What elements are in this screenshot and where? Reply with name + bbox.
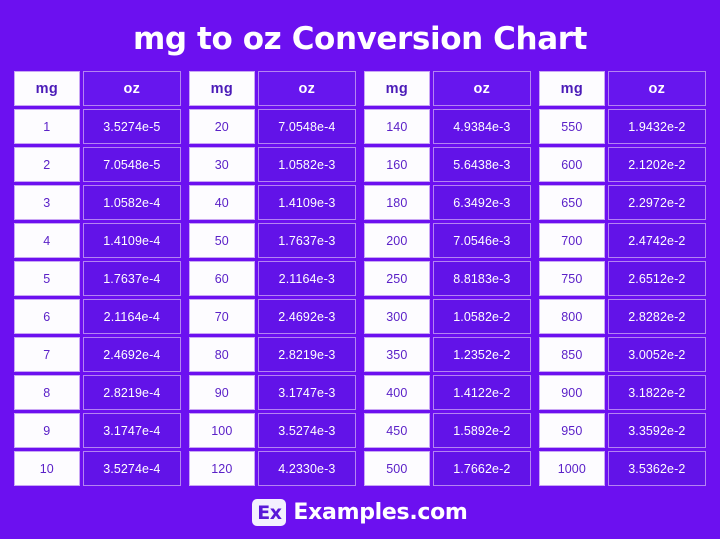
cell-mg: 60 xyxy=(189,261,255,296)
cell-mg: 10 xyxy=(14,451,80,486)
table-row: 401.4109e-3 xyxy=(189,185,356,220)
table-row: 1605.6438e-3 xyxy=(364,147,531,182)
conversion-table: mgoz1404.9384e-31605.6438e-31806.3492e-3… xyxy=(364,71,531,486)
cell-oz: 1.7637e-3 xyxy=(258,223,356,258)
table-row: 51.7637e-4 xyxy=(14,261,181,296)
cell-mg: 140 xyxy=(364,109,430,144)
column-header-mg: mg xyxy=(539,71,605,106)
table-row: 702.4692e-3 xyxy=(189,299,356,334)
cell-mg: 6 xyxy=(14,299,80,334)
cell-oz: 4.2330e-3 xyxy=(258,451,356,486)
table-row: 27.0548e-5 xyxy=(14,147,181,182)
cell-mg: 8 xyxy=(14,375,80,410)
cell-oz: 2.1164e-4 xyxy=(83,299,181,334)
conversion-table: mgoz13.5274e-527.0548e-531.0582e-441.410… xyxy=(14,71,181,486)
table-row: 301.0582e-3 xyxy=(189,147,356,182)
table-row: 62.1164e-4 xyxy=(14,299,181,334)
cell-mg: 70 xyxy=(189,299,255,334)
table-row: 602.1164e-3 xyxy=(189,261,356,296)
table-header-row: mgoz xyxy=(539,71,706,106)
cell-mg: 180 xyxy=(364,185,430,220)
cell-oz: 3.1822e-2 xyxy=(608,375,706,410)
table-row: 1003.5274e-3 xyxy=(189,413,356,448)
cell-mg: 750 xyxy=(539,261,605,296)
cell-mg: 300 xyxy=(364,299,430,334)
column-header-oz: oz xyxy=(433,71,531,106)
column-header-mg: mg xyxy=(189,71,255,106)
cell-mg: 5 xyxy=(14,261,80,296)
cell-mg: 850 xyxy=(539,337,605,372)
cell-mg: 500 xyxy=(364,451,430,486)
cell-oz: 3.0052e-2 xyxy=(608,337,706,372)
cell-mg: 160 xyxy=(364,147,430,182)
cell-mg: 650 xyxy=(539,185,605,220)
cell-oz: 4.9384e-3 xyxy=(433,109,531,144)
table-row: 1806.3492e-3 xyxy=(364,185,531,220)
cell-oz: 3.5274e-4 xyxy=(83,451,181,486)
cell-oz: 1.4109e-4 xyxy=(83,223,181,258)
table-row: 41.4109e-4 xyxy=(14,223,181,258)
cell-oz: 3.5362e-2 xyxy=(608,451,706,486)
table-row: 3501.2352e-2 xyxy=(364,337,531,372)
table-row: 903.1747e-3 xyxy=(189,375,356,410)
cell-oz: 3.5274e-5 xyxy=(83,109,181,144)
cell-mg: 90 xyxy=(189,375,255,410)
cell-oz: 3.1747e-3 xyxy=(258,375,356,410)
cell-mg: 20 xyxy=(189,109,255,144)
column-header-oz: oz xyxy=(608,71,706,106)
page-title: mg to oz Conversion Chart xyxy=(0,19,720,59)
cell-oz: 3.5274e-3 xyxy=(258,413,356,448)
table-row: 4501.5892e-2 xyxy=(364,413,531,448)
column-header-oz: oz xyxy=(258,71,356,106)
table-row: 1204.2330e-3 xyxy=(189,451,356,486)
cell-oz: 1.5892e-2 xyxy=(433,413,531,448)
cell-oz: 2.6512e-2 xyxy=(608,261,706,296)
cell-mg: 4 xyxy=(14,223,80,258)
cell-oz: 1.7637e-4 xyxy=(83,261,181,296)
cell-oz: 2.4742e-2 xyxy=(608,223,706,258)
table-header-row: mgoz xyxy=(14,71,181,106)
cell-oz: 7.0548e-5 xyxy=(83,147,181,182)
table-row: 4001.4122e-2 xyxy=(364,375,531,410)
cell-mg: 1 xyxy=(14,109,80,144)
cell-oz: 1.4109e-3 xyxy=(258,185,356,220)
cell-oz: 2.1202e-2 xyxy=(608,147,706,182)
table-row: 2508.8183e-3 xyxy=(364,261,531,296)
cell-oz: 7.0548e-4 xyxy=(258,109,356,144)
cell-mg: 350 xyxy=(364,337,430,372)
table-row: 93.1747e-4 xyxy=(14,413,181,448)
table-row: 7002.4742e-2 xyxy=(539,223,706,258)
table-row: 6502.2972e-2 xyxy=(539,185,706,220)
table-header-row: mgoz xyxy=(189,71,356,106)
cell-mg: 1000 xyxy=(539,451,605,486)
cell-oz: 2.1164e-3 xyxy=(258,261,356,296)
table-row: 82.8219e-4 xyxy=(14,375,181,410)
table-row: 8002.8282e-2 xyxy=(539,299,706,334)
table-header-row: mgoz xyxy=(364,71,531,106)
table-row: 7502.6512e-2 xyxy=(539,261,706,296)
cell-mg: 120 xyxy=(189,451,255,486)
cell-oz: 5.6438e-3 xyxy=(433,147,531,182)
cell-mg: 3 xyxy=(14,185,80,220)
table-row: 10003.5362e-2 xyxy=(539,451,706,486)
cell-oz: 1.2352e-2 xyxy=(433,337,531,372)
table-row: 802.8219e-3 xyxy=(189,337,356,372)
examples-badge-icon: Ex xyxy=(252,499,286,526)
conversion-table: mgoz5501.9432e-26002.1202e-26502.2972e-2… xyxy=(539,71,706,486)
column-header-mg: mg xyxy=(364,71,430,106)
cell-mg: 7 xyxy=(14,337,80,372)
cell-mg: 9 xyxy=(14,413,80,448)
cell-oz: 1.7662e-2 xyxy=(433,451,531,486)
table-row: 72.4692e-4 xyxy=(14,337,181,372)
table-row: 103.5274e-4 xyxy=(14,451,181,486)
table-row: 13.5274e-5 xyxy=(14,109,181,144)
cell-mg: 550 xyxy=(539,109,605,144)
table-row: 9503.3592e-2 xyxy=(539,413,706,448)
cell-oz: 1.0582e-2 xyxy=(433,299,531,334)
table-row: 3001.0582e-2 xyxy=(364,299,531,334)
cell-oz: 6.3492e-3 xyxy=(433,185,531,220)
cell-mg: 900 xyxy=(539,375,605,410)
cell-mg: 950 xyxy=(539,413,605,448)
cell-oz: 2.8219e-4 xyxy=(83,375,181,410)
cell-mg: 700 xyxy=(539,223,605,258)
column-header-mg: mg xyxy=(14,71,80,106)
tables-container: mgoz13.5274e-527.0548e-531.0582e-441.410… xyxy=(0,59,720,486)
cell-mg: 200 xyxy=(364,223,430,258)
table-row: 207.0548e-4 xyxy=(189,109,356,144)
table-row: 2007.0546e-3 xyxy=(364,223,531,258)
cell-oz: 3.1747e-4 xyxy=(83,413,181,448)
table-row: 31.0582e-4 xyxy=(14,185,181,220)
cell-oz: 7.0546e-3 xyxy=(433,223,531,258)
cell-oz: 1.0582e-3 xyxy=(258,147,356,182)
cell-mg: 30 xyxy=(189,147,255,182)
cell-oz: 2.8219e-3 xyxy=(258,337,356,372)
table-row: 8503.0052e-2 xyxy=(539,337,706,372)
table-row: 6002.1202e-2 xyxy=(539,147,706,182)
cell-oz: 2.2972e-2 xyxy=(608,185,706,220)
cell-mg: 400 xyxy=(364,375,430,410)
table-row: 5001.7662e-2 xyxy=(364,451,531,486)
cell-oz: 1.0582e-4 xyxy=(83,185,181,220)
table-row: 5501.9432e-2 xyxy=(539,109,706,144)
footer-logo: Ex Examples.com xyxy=(0,486,720,539)
cell-mg: 2 xyxy=(14,147,80,182)
cell-mg: 800 xyxy=(539,299,605,334)
cell-mg: 80 xyxy=(189,337,255,372)
cell-mg: 40 xyxy=(189,185,255,220)
column-header-oz: oz xyxy=(83,71,181,106)
cell-mg: 50 xyxy=(189,223,255,258)
table-row: 9003.1822e-2 xyxy=(539,375,706,410)
cell-oz: 8.8183e-3 xyxy=(433,261,531,296)
brand-name: Examples.com xyxy=(293,500,467,525)
table-row: 501.7637e-3 xyxy=(189,223,356,258)
cell-oz: 2.8282e-2 xyxy=(608,299,706,334)
cell-mg: 250 xyxy=(364,261,430,296)
cell-oz: 2.4692e-3 xyxy=(258,299,356,334)
cell-oz: 1.9432e-2 xyxy=(608,109,706,144)
cell-oz: 2.4692e-4 xyxy=(83,337,181,372)
cell-mg: 600 xyxy=(539,147,605,182)
cell-mg: 450 xyxy=(364,413,430,448)
conversion-chart-page: mg to oz Conversion Chart mgoz13.5274e-5… xyxy=(0,0,720,539)
cell-oz: 1.4122e-2 xyxy=(433,375,531,410)
cell-oz: 3.3592e-2 xyxy=(608,413,706,448)
table-row: 1404.9384e-3 xyxy=(364,109,531,144)
conversion-table: mgoz207.0548e-4301.0582e-3401.4109e-3501… xyxy=(189,71,356,486)
cell-mg: 100 xyxy=(189,413,255,448)
